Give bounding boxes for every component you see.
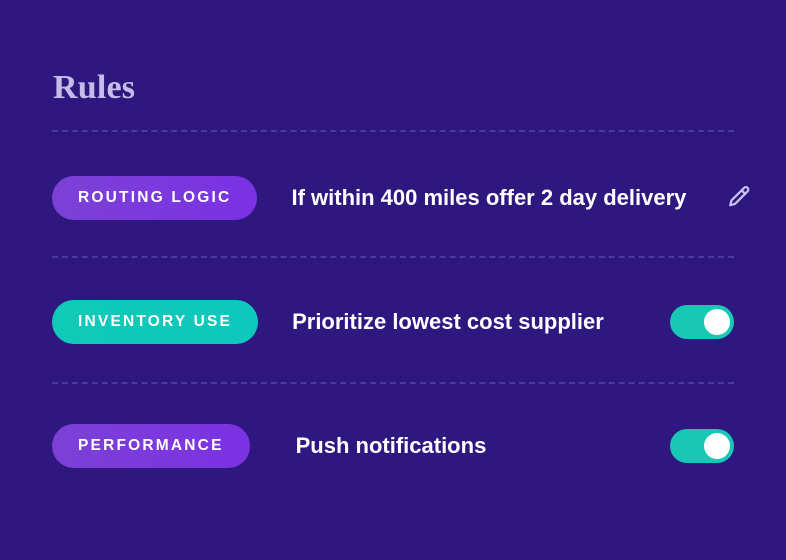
toggle-knob [704,309,730,335]
rule-text-inventory-use: Prioritize lowest cost supplier [292,309,668,335]
rules-panel: Rules ROUTING LOGIC If within 400 miles … [0,0,786,560]
edit-icon[interactable] [724,184,752,212]
rule-row: ROUTING LOGIC If within 400 miles offer … [52,170,734,226]
toggle-push-notifications[interactable] [670,429,734,463]
page-title: Rules [53,68,135,108]
toggle-inventory-use[interactable] [670,305,734,339]
rule-tag-inventory-use[interactable]: INVENTORY USE [52,300,258,344]
rule-text-performance: Push notifications [296,433,668,459]
rule-text-routing-logic: If within 400 miles offer 2 day delivery [291,185,686,211]
toggle-knob [704,433,730,459]
rule-tag-routing-logic[interactable]: ROUTING LOGIC [52,176,257,220]
rule-row: PERFORMANCE Push notifications [52,418,734,474]
rule-tag-performance[interactable]: PERFORMANCE [52,424,250,468]
rule-control-slot [668,305,734,339]
divider-bottom [52,382,734,384]
rule-row: INVENTORY USE Prioritize lowest cost sup… [52,294,734,350]
divider-top [52,130,734,132]
rule-control-slot [686,184,752,212]
divider-middle [52,256,734,258]
rule-control-slot [668,429,734,463]
